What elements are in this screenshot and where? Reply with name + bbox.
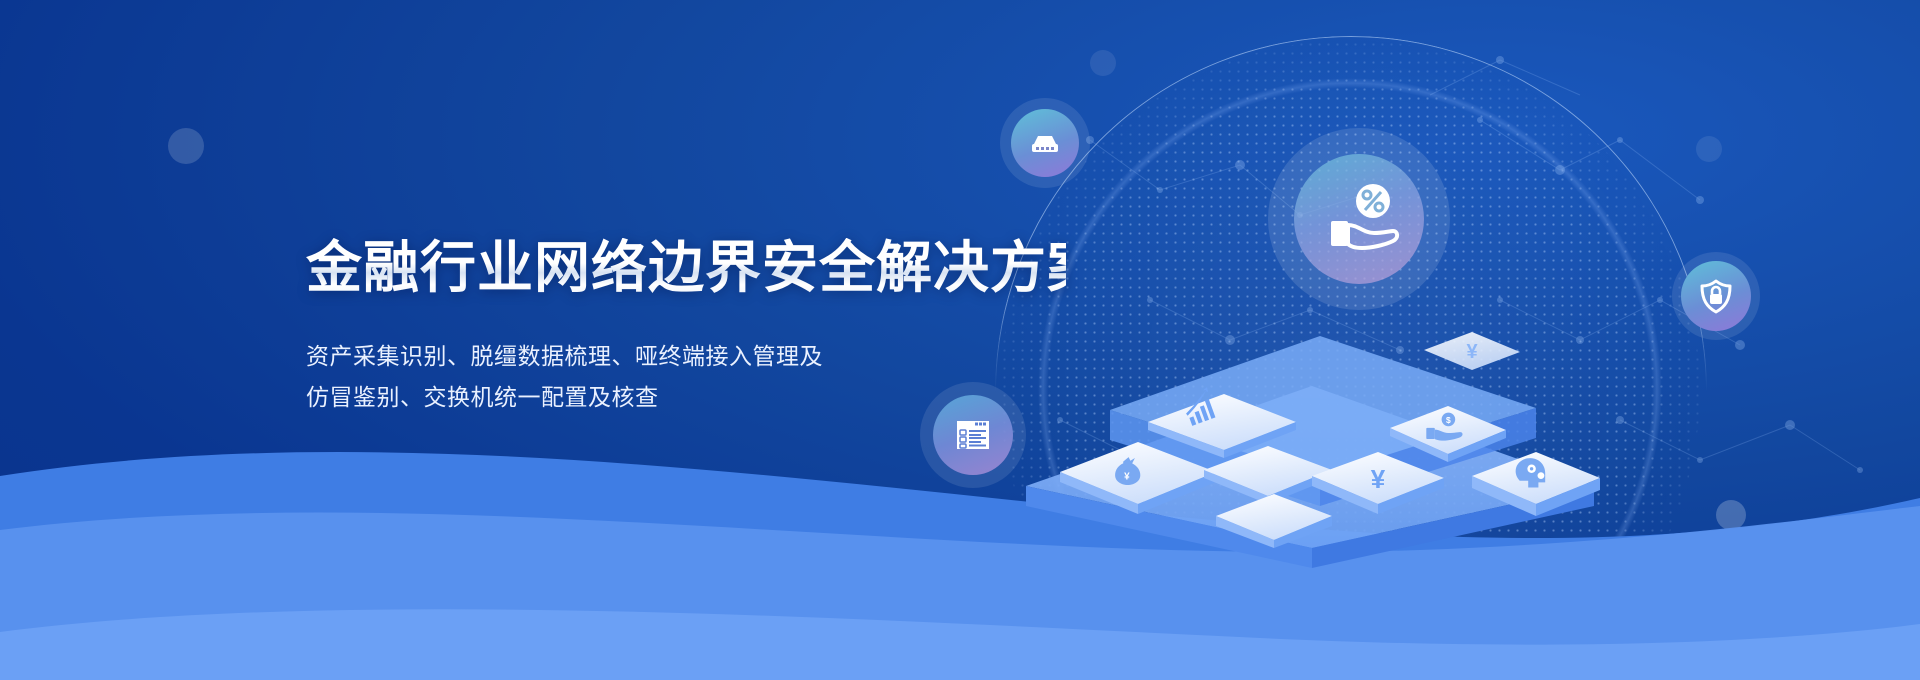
percent-hand-icon [1311, 171, 1407, 267]
shield-lock-bubble[interactable] [1672, 252, 1760, 340]
decor-dot-3 [1696, 136, 1722, 162]
network-switch-bubble[interactable] [1000, 98, 1090, 188]
svg-text:¥: ¥ [1124, 472, 1130, 483]
percent-hand-bubble[interactable] [1268, 128, 1450, 310]
decor-dot-2 [1090, 50, 1116, 76]
finance-security-banner: ¥ ¥ [0, 0, 1920, 680]
document-list-icon [948, 410, 998, 460]
network-switch-icon [1025, 123, 1065, 163]
isometric-finance-platform: ¥ ¥ [1020, 290, 1600, 550]
banner-subtitle: 资产采集识别、脱缰数据梳理、哑终端接入管理及 仿冒鉴别、交换机统一配置及核查 [306, 336, 1066, 418]
platform-tile-yen-raised: ¥ [1424, 332, 1520, 370]
decor-dot-1 [168, 128, 204, 164]
svg-text:¥: ¥ [1466, 341, 1478, 363]
svg-text:¥: ¥ [1371, 464, 1386, 494]
svg-text:$: $ [1446, 415, 1451, 425]
banner-copy: 金融行业网络边界安全解决方案 资产采集识别、脱缰数据梳理、哑终端接入管理及 仿冒… [306, 238, 1066, 418]
page-title: 金融行业网络边界安全解决方案 [306, 238, 1066, 298]
subtitle-line-1: 资产采集识别、脱缰数据梳理、哑终端接入管理及 [306, 336, 1066, 377]
shield-lock-icon [1694, 274, 1738, 318]
